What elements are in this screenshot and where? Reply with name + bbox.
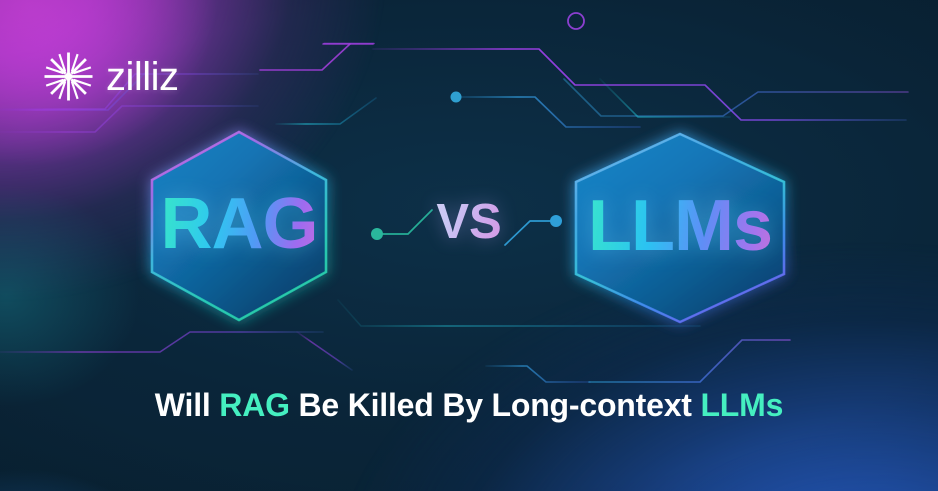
tagline-part-2: Be Killed By Long-context xyxy=(290,387,701,423)
rag-hexagon-badge[interactable]: RAG xyxy=(148,128,330,324)
llms-label: LLMs xyxy=(572,130,788,326)
brand-logo[interactable]: zilliz xyxy=(42,50,179,103)
tagline-highlight-rag: RAG xyxy=(219,387,290,423)
brand-wordmark: zilliz xyxy=(106,57,179,97)
hero-banner: zilliz xyxy=(0,0,938,491)
llms-hexagon-badge[interactable]: LLMs xyxy=(572,130,788,326)
tagline-highlight-llms: LLMs xyxy=(700,387,783,423)
versus-label: VS xyxy=(424,192,514,252)
starburst-icon xyxy=(42,50,95,103)
rag-label: RAG xyxy=(148,128,330,324)
tagline-part-1: Will xyxy=(155,387,220,423)
tagline: Will RAG Be Killed By Long-context LLMs xyxy=(0,388,938,423)
